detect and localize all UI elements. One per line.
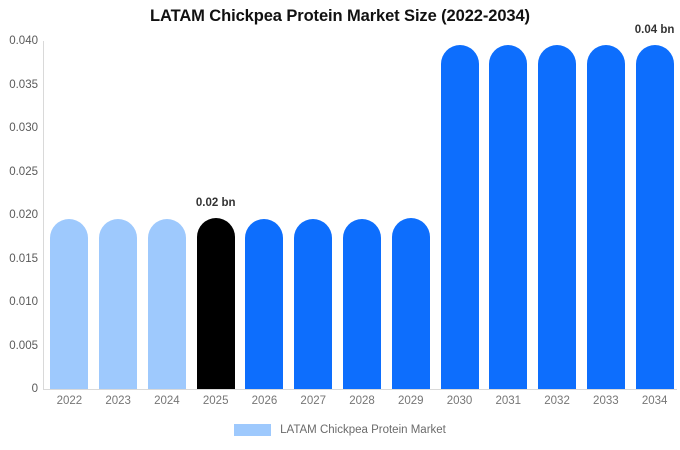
bar-2029[interactable] xyxy=(392,218,430,389)
bar-2032[interactable] xyxy=(538,45,576,389)
x-axis-line xyxy=(43,389,677,390)
x-axis-tick-label: 2034 xyxy=(642,395,668,407)
bar-2025[interactable] xyxy=(197,218,235,389)
y-axis-tick-labels: 00.0050.0100.0150.0200.0250.0300.0350.04… xyxy=(0,0,38,450)
bar-2034[interactable] xyxy=(636,45,674,389)
bar-2031[interactable] xyxy=(489,45,527,389)
chart-legend: LATAM Chickpea Protein Market xyxy=(0,424,680,436)
y-axis-tick-label: 0.015 xyxy=(0,253,38,265)
y-axis-tick-label: 0.040 xyxy=(0,35,38,47)
y-axis-tick-label: 0.010 xyxy=(0,296,38,308)
bar-chart: LATAM Chickpea Protein Market Size (2022… xyxy=(0,0,680,450)
y-axis-tick-label: 0 xyxy=(0,383,38,395)
x-axis-tick-label: 2024 xyxy=(154,395,180,407)
bar-2033[interactable] xyxy=(587,45,625,389)
y-axis-tick-label: 0.025 xyxy=(0,166,38,178)
x-axis-tick-label: 2030 xyxy=(447,395,473,407)
legend-item-label: LATAM Chickpea Protein Market xyxy=(280,424,446,436)
y-axis-tick-label: 0.030 xyxy=(0,122,38,134)
bar-2027[interactable] xyxy=(294,219,332,389)
y-axis-tick-label: 0.020 xyxy=(0,209,38,221)
y-axis-tick-label: 0.035 xyxy=(0,79,38,91)
bar-2022[interactable] xyxy=(50,219,88,389)
data-label-2034: 0.04 bn xyxy=(635,24,675,36)
data-label-2025: 0.02 bn xyxy=(196,197,236,209)
x-axis-tick-label: 2022 xyxy=(57,395,83,407)
x-axis-tick-label: 2023 xyxy=(105,395,131,407)
x-axis-tick-label: 2033 xyxy=(593,395,619,407)
bar-2024[interactable] xyxy=(148,219,186,389)
x-axis-tick-label: 2025 xyxy=(203,395,229,407)
bar-2028[interactable] xyxy=(343,219,381,389)
x-axis-tick-label: 2031 xyxy=(496,395,522,407)
x-axis-tick-label: 2028 xyxy=(349,395,375,407)
chart-title: LATAM Chickpea Protein Market Size (2022… xyxy=(0,7,680,26)
bar-2023[interactable] xyxy=(99,219,137,389)
bar-2026[interactable] xyxy=(245,219,283,389)
x-axis-tick-label: 2029 xyxy=(398,395,424,407)
legend-item[interactable]: LATAM Chickpea Protein Market xyxy=(234,424,446,436)
y-axis-tick-label: 0.005 xyxy=(0,340,38,352)
bar-2030[interactable] xyxy=(441,45,479,389)
x-axis-tick-label: 2032 xyxy=(544,395,570,407)
legend-swatch-icon xyxy=(234,424,271,436)
x-axis-tick-label: 2027 xyxy=(300,395,326,407)
bars-layer xyxy=(43,41,677,389)
x-axis-tick-label: 2026 xyxy=(252,395,278,407)
x-axis-tick-labels: 2022202320242025202620272028202920302031… xyxy=(43,392,677,412)
